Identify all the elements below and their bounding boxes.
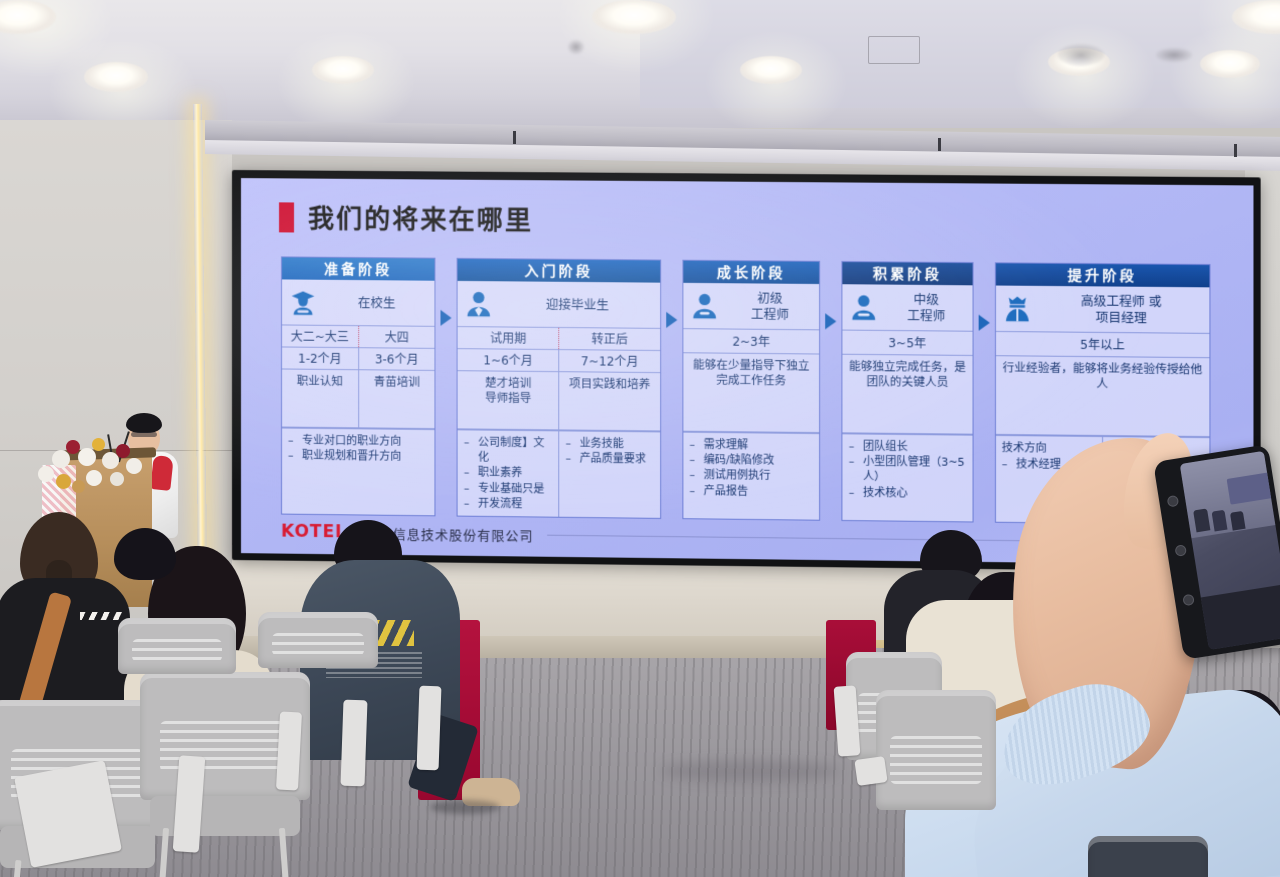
suited-person-icon bbox=[464, 289, 494, 319]
auditorium-chair[interactable] bbox=[118, 618, 236, 678]
bullet-item: 公司制度】文化 bbox=[464, 434, 552, 465]
arrow-right-icon bbox=[825, 313, 836, 329]
stage-column-growth: 成长阶段 初级 工程师 2~3年 能够在少量指导下独立完成工作任务 bbox=[682, 260, 820, 521]
phase-label: 大四 bbox=[358, 326, 435, 348]
ceiling-access-panel bbox=[868, 36, 920, 64]
duration-label: 5年以上 bbox=[996, 332, 1210, 358]
company-logo: KOTEI bbox=[281, 522, 343, 543]
activity-row: 职业认知 青苗培训 bbox=[282, 369, 435, 429]
bullet-item: 产品质量要求 bbox=[565, 451, 654, 467]
stage-column-accumulation: 积累阶段 中级 工程师 3~5年 能够独立完成任务，是团队的关键人员 bbox=[842, 261, 974, 522]
bullet-item: 专业基础只是 bbox=[464, 480, 552, 496]
duration-row: 1~6个月 7~12个月 bbox=[458, 349, 660, 373]
activity-row: 能够独立完成任务，是团队的关键人员 bbox=[843, 355, 973, 435]
bullet-item: 职业规划和晋升方向 bbox=[288, 448, 429, 465]
role-row: 高级工程师 或 项目经理 bbox=[996, 286, 1210, 334]
bullet-item: 需求理解 bbox=[689, 437, 813, 454]
role-row: 在校生 bbox=[282, 279, 435, 326]
stage-column-entry: 入门阶段 迎接毕业生 试用期 转正后 1~6个月 bbox=[457, 258, 661, 519]
engineer-person-icon bbox=[689, 290, 719, 320]
stage-header: 成长阶段 bbox=[683, 261, 819, 284]
duration-label: 1-2个月 bbox=[282, 347, 358, 369]
phase-label: 大二~大三 bbox=[282, 325, 358, 347]
phase-label: 试用期 bbox=[458, 327, 559, 349]
viewfinder-person bbox=[1230, 511, 1246, 531]
activity-label: 能够在少量指导下独立完成工作任务 bbox=[683, 353, 819, 432]
duration-label: 3~5年 bbox=[843, 331, 973, 356]
activity-row: 能够在少量指导下独立完成工作任务 bbox=[683, 353, 819, 433]
chair-tablet-arm[interactable] bbox=[417, 686, 442, 771]
floor-shadow bbox=[430, 800, 500, 814]
bullet-item: 产品报告 bbox=[689, 483, 813, 500]
duration-label: 1~6个月 bbox=[458, 349, 559, 371]
camera-control-icon[interactable] bbox=[1182, 594, 1195, 607]
role-label: 中级 工程师 bbox=[886, 292, 966, 324]
activity-label: 青苗培训 bbox=[358, 370, 435, 428]
photo-scene: 我们的将来在哪里 准备阶段 在校生 大二~大三 bbox=[0, 0, 1280, 877]
phase-row: 试用期 转正后 bbox=[458, 327, 660, 351]
bullet-row: 团队组长 小型团队管理（3~5人） 技术核心 bbox=[843, 433, 973, 521]
rail-clip bbox=[513, 131, 516, 144]
ceiling-sprinkler-icon bbox=[568, 40, 584, 54]
activity-label: 能够独立完成任务，是团队的关键人员 bbox=[843, 355, 973, 434]
activity-label: 行业经验者，能够将业务经验传授给他人 bbox=[996, 356, 1210, 436]
activity-label: 职业认知 bbox=[282, 369, 358, 427]
chair-tablet-arm[interactable] bbox=[341, 700, 368, 787]
activity-row: 行业经验者，能够将业务经验传授给他人 bbox=[996, 356, 1210, 437]
chair-tablet-arm[interactable] bbox=[276, 711, 302, 790]
floor-shadow bbox=[660, 760, 840, 782]
presenter-jacket-accent bbox=[150, 455, 173, 491]
flow-arrow-1 bbox=[436, 258, 457, 517]
camera-control-icon[interactable] bbox=[1174, 544, 1187, 557]
bullet-row: 公司制度】文化 职业素养 专业基础只是 开发流程 业务技能 产品质量要求 bbox=[458, 429, 660, 518]
role-label: 迎接毕业生 bbox=[501, 296, 654, 313]
flow-arrow-3 bbox=[820, 261, 841, 521]
chair-tablet-arm[interactable] bbox=[14, 760, 122, 868]
downlight-icon bbox=[740, 56, 802, 84]
bullet-item: 小型团队管理（3~5人） bbox=[849, 454, 966, 486]
rail-clip bbox=[938, 138, 941, 151]
sleeve-stripes bbox=[80, 612, 122, 620]
bullet-item: 团队组长 bbox=[849, 438, 966, 455]
arrow-right-icon bbox=[441, 310, 452, 326]
bullet-item: 测试用例执行 bbox=[689, 467, 813, 484]
flow-arrow-2 bbox=[661, 260, 682, 520]
stage-column-preparation: 准备阶段 在校生 大二~大三 大四 1-2个月 bbox=[281, 256, 436, 516]
auditorium-chair[interactable] bbox=[1088, 836, 1208, 877]
bullet-item: 职业素养 bbox=[464, 465, 552, 481]
stage-header: 积累阶段 bbox=[843, 262, 973, 285]
podium-flower-arrangement bbox=[34, 430, 152, 500]
flow-arrow-4 bbox=[973, 262, 994, 523]
stage-header: 准备阶段 bbox=[282, 257, 435, 280]
arrow-right-icon bbox=[666, 312, 677, 328]
downlight-icon bbox=[592, 0, 676, 34]
duration-row: 1-2个月 3-6个月 bbox=[282, 347, 435, 370]
duration-label: 3-6个月 bbox=[358, 348, 435, 370]
page-title: 我们的将来在哪里 bbox=[308, 199, 533, 238]
bullet-row: 需求理解 编码/缺陷修改 测试用例执行 产品报告 bbox=[683, 432, 819, 520]
bullet-item: 编码/缺陷修改 bbox=[689, 452, 813, 469]
role-row: 中级 工程师 bbox=[843, 284, 973, 332]
rail-clip bbox=[1234, 144, 1237, 157]
stage-header: 提升阶段 bbox=[996, 263, 1210, 287]
role-label: 初级 工程师 bbox=[727, 290, 813, 322]
activity-row: 楚才培训 导师指导 项目实践和培养 bbox=[458, 371, 660, 431]
bullet-item: 专业对口的职业方向 bbox=[288, 433, 429, 450]
activity-label: 项目实践和培养 bbox=[558, 372, 660, 430]
auditorium-chair[interactable] bbox=[258, 612, 378, 672]
bullet-row: 专业对口的职业方向 职业规划和晋升方向 bbox=[282, 428, 435, 516]
crown-person-icon bbox=[1002, 293, 1033, 324]
bullet-item: 技术核心 bbox=[849, 484, 966, 501]
duration-label: 2~3年 bbox=[683, 329, 819, 354]
stage-header: 入门阶段 bbox=[458, 259, 660, 283]
title-accent-bar bbox=[279, 202, 294, 232]
ceiling-vent-icon bbox=[1058, 44, 1104, 66]
role-label: 高级工程师 或 项目经理 bbox=[1039, 293, 1203, 326]
viewfinder-floor bbox=[1201, 585, 1280, 650]
bullet-cell: 需求理解 编码/缺陷修改 测试用例执行 产品报告 bbox=[683, 433, 819, 520]
bullet-item: 业务技能 bbox=[565, 435, 654, 451]
camera-control-icon[interactable] bbox=[1167, 495, 1180, 508]
auditorium-chair[interactable] bbox=[876, 690, 996, 850]
senior-person-icon bbox=[849, 292, 879, 323]
downlight-icon bbox=[84, 62, 148, 92]
arrow-right-icon bbox=[978, 315, 989, 331]
role-row: 初级 工程师 bbox=[683, 283, 819, 330]
downlight-icon bbox=[312, 56, 374, 84]
activity-label: 楚才培训 导师指导 bbox=[458, 371, 559, 429]
bullet-cell: 专业对口的职业方向 职业规划和晋升方向 bbox=[282, 429, 435, 516]
bullet-cell: 团队组长 小型团队管理（3~5人） 技术核心 bbox=[843, 434, 973, 521]
bullet-cell: 业务技能 产品质量要求 bbox=[558, 431, 660, 518]
bullet-item: 开发流程 bbox=[464, 495, 552, 511]
duration-label: 7~12个月 bbox=[558, 350, 660, 372]
downlight-icon bbox=[1200, 50, 1260, 78]
role-label: 在校生 bbox=[325, 294, 429, 311]
phase-label: 转正后 bbox=[558, 328, 660, 350]
bullet-cell: 公司制度】文化 职业素养 专业基础只是 开发流程 bbox=[458, 430, 559, 516]
role-row: 迎接毕业生 bbox=[458, 281, 660, 329]
ceiling-vent-icon bbox=[1156, 48, 1192, 62]
chair-tablet-arm[interactable] bbox=[854, 756, 887, 786]
phone-viewfinder[interactable] bbox=[1180, 451, 1280, 650]
phase-row: 大二~大三 大四 bbox=[282, 325, 435, 348]
graduate-cap-person-icon bbox=[288, 287, 318, 317]
slide-title-row: 我们的将来在哪里 bbox=[279, 198, 533, 237]
